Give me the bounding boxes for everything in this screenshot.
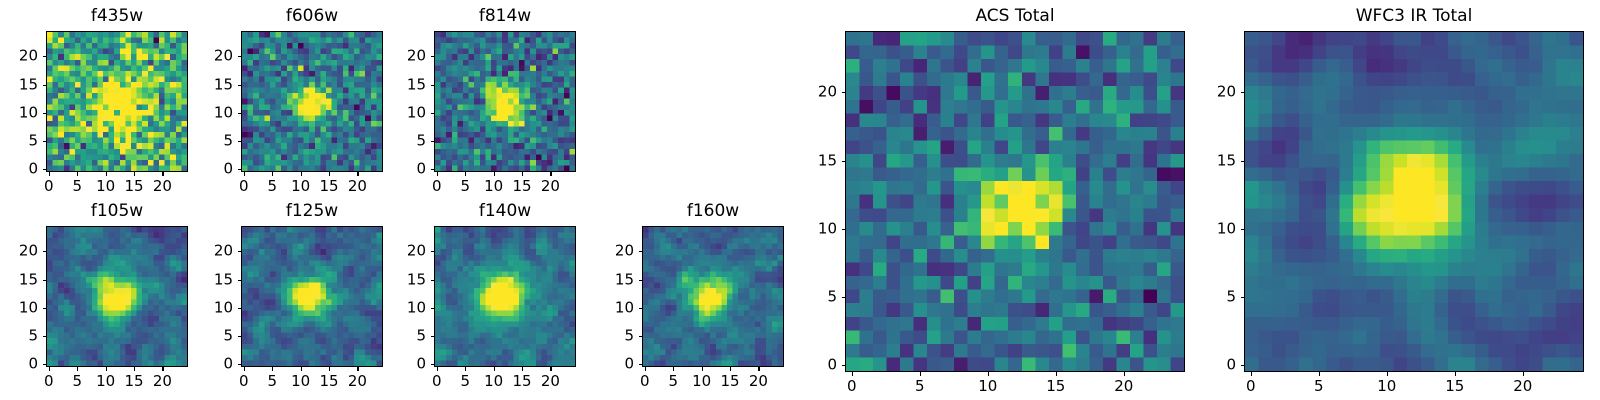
x-tick-label: 10 <box>692 374 711 389</box>
y-tick-mark <box>431 364 435 365</box>
x-tick-mark <box>1523 372 1524 376</box>
y-tick-label: 20 <box>407 244 426 259</box>
heatmap-image <box>846 32 1184 371</box>
y-tick-mark <box>431 336 435 337</box>
x-tick-label: 5 <box>915 379 925 394</box>
plot-area-f105w <box>46 226 188 367</box>
y-tick-label: 10 <box>407 300 426 315</box>
y-tick-label: 0 <box>416 357 426 372</box>
heatmap-image <box>242 227 382 366</box>
y-tick-label: 15 <box>214 272 233 287</box>
y-tick-mark <box>842 229 846 230</box>
y-tick-label: 0 <box>223 357 233 372</box>
y-tick-mark <box>639 336 643 337</box>
panel-f160w: f160w0510152005101520 <box>582 0 784 400</box>
y-tick-mark <box>431 280 435 281</box>
panel-f105w: f105w0510152005101520 <box>0 0 188 400</box>
x-tick-label: 20 <box>1114 379 1133 394</box>
panel-title-f140w: f140w <box>434 203 576 220</box>
x-tick-label: 0 <box>847 379 857 394</box>
x-tick-label: 15 <box>512 374 531 389</box>
x-tick-mark <box>1319 372 1320 376</box>
y-tick-label: 10 <box>615 300 634 315</box>
y-tick-label: 15 <box>19 272 38 287</box>
y-tick-mark <box>1241 297 1245 298</box>
x-tick-mark <box>106 367 107 371</box>
x-tick-label: 15 <box>1046 379 1065 394</box>
y-tick-label: 10 <box>1217 221 1236 236</box>
x-tick-label: 0 <box>432 374 442 389</box>
plot-area-f125w <box>241 226 383 367</box>
y-tick-mark <box>238 280 242 281</box>
y-tick-mark <box>1241 161 1245 162</box>
y-tick-label: 15 <box>407 272 426 287</box>
y-tick-mark <box>842 161 846 162</box>
panel-title-acs-total: ACS Total <box>845 8 1185 25</box>
y-tick-mark <box>43 364 47 365</box>
x-tick-label: 5 <box>668 374 678 389</box>
x-tick-mark <box>244 367 245 371</box>
x-tick-mark <box>1455 372 1456 376</box>
y-tick-label: 15 <box>818 153 837 168</box>
x-tick-label: 5 <box>1314 379 1324 394</box>
y-tick-mark <box>43 280 47 281</box>
x-tick-mark <box>357 367 358 371</box>
x-tick-mark <box>522 367 523 371</box>
y-tick-label: 20 <box>615 244 634 259</box>
y-tick-mark <box>639 251 643 252</box>
y-tick-label: 0 <box>28 357 38 372</box>
x-tick-mark <box>730 367 731 371</box>
x-tick-mark <box>134 367 135 371</box>
x-tick-mark <box>437 367 438 371</box>
y-tick-label: 5 <box>416 328 426 343</box>
x-tick-mark <box>852 372 853 376</box>
y-tick-label: 5 <box>223 328 233 343</box>
y-tick-mark <box>842 365 846 366</box>
y-tick-mark <box>238 336 242 337</box>
y-tick-mark <box>1241 229 1245 230</box>
x-tick-label: 10 <box>484 374 503 389</box>
x-tick-label: 20 <box>1513 379 1532 394</box>
heatmap-image <box>643 227 783 366</box>
x-tick-mark <box>49 367 50 371</box>
y-tick-mark <box>238 308 242 309</box>
x-tick-label: 5 <box>460 374 470 389</box>
x-tick-mark <box>1056 372 1057 376</box>
y-tick-label: 0 <box>827 358 837 373</box>
heatmap-image <box>47 227 187 366</box>
y-tick-mark <box>842 297 846 298</box>
plot-area-f160w <box>642 226 784 367</box>
y-tick-label: 20 <box>19 244 38 259</box>
x-tick-label: 20 <box>749 374 768 389</box>
x-tick-mark <box>494 367 495 371</box>
y-tick-label: 20 <box>214 244 233 259</box>
y-tick-label: 10 <box>818 221 837 236</box>
y-tick-mark <box>639 308 643 309</box>
x-tick-mark <box>1387 372 1388 376</box>
y-tick-mark <box>43 251 47 252</box>
y-tick-label: 20 <box>818 85 837 100</box>
y-tick-label: 5 <box>1226 289 1236 304</box>
y-tick-label: 0 <box>1226 358 1236 373</box>
x-tick-label: 10 <box>291 374 310 389</box>
x-tick-mark <box>272 367 273 371</box>
y-tick-mark <box>43 308 47 309</box>
x-tick-label: 5 <box>72 374 82 389</box>
x-tick-mark <box>702 367 703 371</box>
y-tick-label: 15 <box>1217 153 1236 168</box>
panel-title-wfc3-ir-total: WFC3 IR Total <box>1244 8 1584 25</box>
panel-wfc3-ir-total: WFC3 IR Total0510152005101520 <box>1184 0 1584 400</box>
y-tick-mark <box>1241 92 1245 93</box>
x-tick-label: 0 <box>1246 379 1256 394</box>
y-tick-mark <box>238 364 242 365</box>
panel-f125w: f125w0510152005101520 <box>181 0 383 400</box>
y-tick-label: 15 <box>615 272 634 287</box>
x-tick-mark <box>920 372 921 376</box>
plot-area-wfc3-ir-total <box>1244 31 1584 372</box>
plot-area-acs-total <box>845 31 1185 372</box>
y-tick-mark <box>43 336 47 337</box>
panel-acs-total: ACS Total0510152005101520 <box>785 0 1185 400</box>
heatmap-image <box>435 227 575 366</box>
x-tick-mark <box>988 372 989 376</box>
x-tick-label: 0 <box>239 374 249 389</box>
panel-title-f105w: f105w <box>46 203 188 220</box>
x-tick-label: 5 <box>267 374 277 389</box>
y-tick-label: 10 <box>19 300 38 315</box>
x-tick-label: 10 <box>1377 379 1396 394</box>
y-tick-mark <box>431 251 435 252</box>
x-tick-mark <box>758 367 759 371</box>
panel-f140w: f140w0510152005101520 <box>374 0 576 400</box>
y-tick-label: 10 <box>214 300 233 315</box>
x-tick-label: 20 <box>348 374 367 389</box>
x-tick-label: 10 <box>96 374 115 389</box>
x-tick-mark <box>645 367 646 371</box>
x-tick-label: 0 <box>640 374 650 389</box>
plot-area-f140w <box>434 226 576 367</box>
y-tick-label: 20 <box>1217 85 1236 100</box>
y-tick-label: 5 <box>827 289 837 304</box>
x-tick-mark <box>1124 372 1125 376</box>
y-tick-label: 5 <box>28 328 38 343</box>
x-tick-label: 0 <box>44 374 54 389</box>
x-tick-mark <box>550 367 551 371</box>
x-tick-mark <box>162 367 163 371</box>
x-tick-mark <box>465 367 466 371</box>
y-tick-mark <box>639 280 643 281</box>
y-tick-label: 5 <box>624 328 634 343</box>
x-tick-mark <box>301 367 302 371</box>
x-tick-mark <box>329 367 330 371</box>
x-tick-label: 20 <box>541 374 560 389</box>
x-tick-label: 20 <box>153 374 172 389</box>
x-tick-label: 15 <box>319 374 338 389</box>
y-tick-mark <box>639 364 643 365</box>
y-tick-label: 0 <box>624 357 634 372</box>
y-tick-mark <box>431 308 435 309</box>
x-tick-label: 15 <box>1445 379 1464 394</box>
heatmap-image <box>1245 32 1583 371</box>
x-tick-mark <box>77 367 78 371</box>
y-tick-mark <box>238 251 242 252</box>
x-tick-label: 15 <box>124 374 143 389</box>
x-tick-label: 10 <box>978 379 997 394</box>
x-tick-label: 15 <box>720 374 739 389</box>
x-tick-mark <box>1251 372 1252 376</box>
panel-title-f125w: f125w <box>241 203 383 220</box>
y-tick-mark <box>842 92 846 93</box>
x-tick-mark <box>673 367 674 371</box>
panel-title-f160w: f160w <box>642 203 784 220</box>
y-tick-mark <box>1241 365 1245 366</box>
